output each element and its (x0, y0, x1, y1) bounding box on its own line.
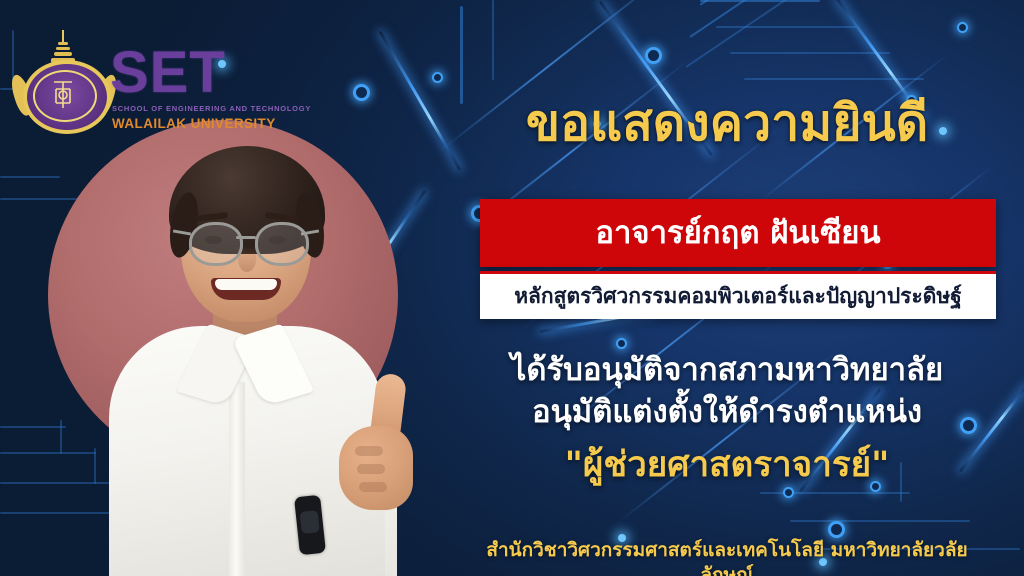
spire-tier (54, 52, 72, 56)
logo-tagline: SCHOOL OF ENGINEERING AND TECHNOLOGY (112, 104, 311, 113)
glasses-lens-right (255, 222, 309, 266)
page-title: ขอแสดงความยินดี (430, 96, 1024, 151)
program-name: หลักสูตรวิศวกรรมคอมพิวเตอร์และปัญญาประดิ… (514, 286, 962, 307)
shirt-placket (229, 382, 245, 576)
footer-line-1: สำนักวิชาวิศวกรรมศาสตร์และเทคโนโลยี มหาว… (430, 541, 1024, 560)
spire-tier (58, 42, 68, 45)
footer-line-2: ลักษณ์ (430, 566, 1024, 576)
glasses-lens-left (189, 222, 243, 266)
smile (211, 278, 281, 300)
body-line-2: อนุมัติแต่งตั้งให้ดำรงตำแหน่ง (430, 397, 1024, 428)
logo-wordmark: SET (110, 44, 226, 102)
person-photo (95, 130, 395, 576)
fist (339, 426, 413, 510)
logo-university: WALAILAK UNIVERSITY (112, 116, 276, 131)
knuckle (355, 446, 383, 456)
seal-monogram-icon (50, 78, 76, 112)
set-walailak-logo: SET SCHOOL OF ENGINEERING AND TECHNOLOGY… (14, 14, 254, 130)
honoree-name-banner: อาจารย์กฤต ฝันเซียน (480, 199, 996, 267)
knuckle (359, 482, 387, 492)
body-line-1: ได้รับอนุมัติจากสภามหาวิทยาลัย (430, 355, 1024, 386)
honoree-name: อาจารย์กฤต ฝันเซียน (595, 218, 880, 249)
glasses-bridge (236, 236, 256, 239)
spire-tier (56, 47, 70, 50)
knuckle (357, 464, 385, 474)
program-banner: หลักสูตรวิศวกรรมคอมพิวเตอร์และปัญญาประดิ… (480, 271, 996, 319)
university-seal-icon (20, 30, 106, 126)
watch-face (300, 510, 320, 534)
teeth (215, 279, 277, 290)
congratulations-poster: SET SCHOOL OF ENGINEERING AND TECHNOLOGY… (0, 0, 1024, 576)
content-column: ขอแสดงความยินดี อาจารย์กฤต ฝันเซียน หลัก… (430, 0, 1024, 576)
academic-position: "ผู้ช่วยศาสตราจารย์" (430, 448, 1024, 483)
